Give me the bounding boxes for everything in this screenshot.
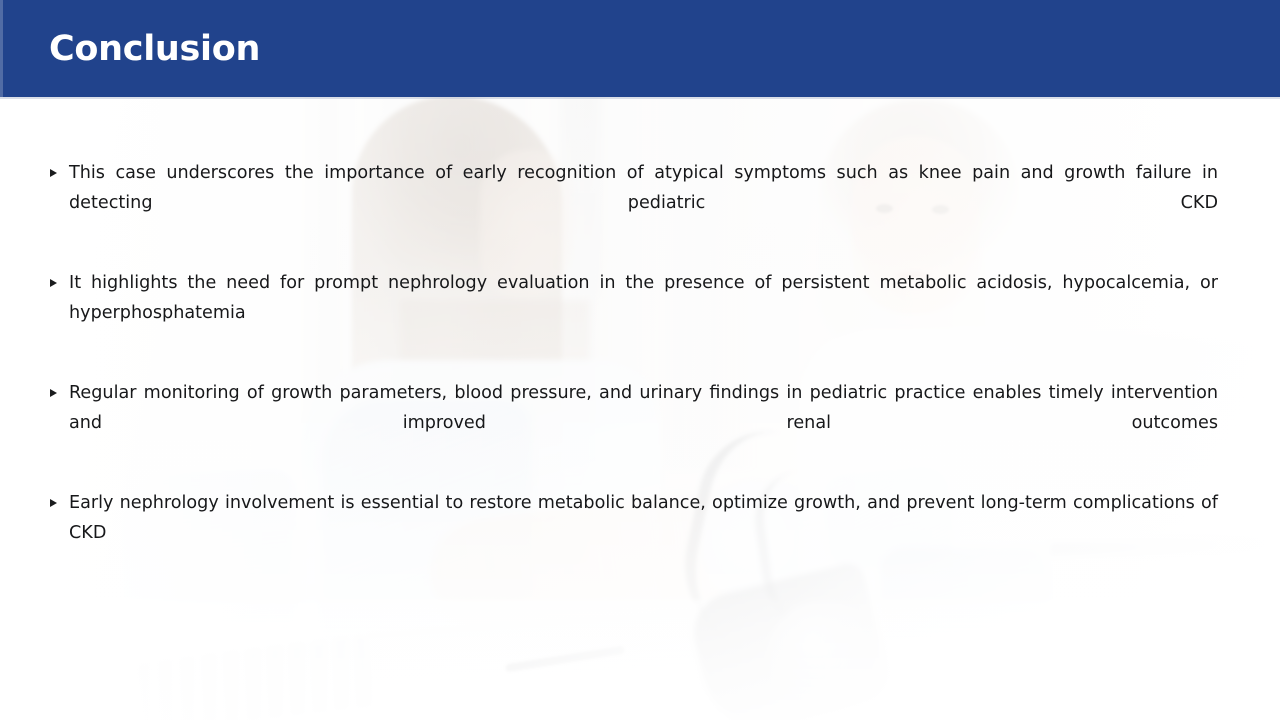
triangle-right-icon [50,169,57,177]
page-title: Conclusion [49,25,260,73]
list-item: It highlights the need for prompt nephro… [0,268,1280,358]
list-item: Regular monitoring of growth parameters,… [0,378,1280,468]
bullet-text: It highlights the need for prompt nephro… [69,273,1218,353]
triangle-right-icon [50,499,57,507]
slide-header-band: Conclusion [0,0,1280,97]
slide-left-edge [0,0,3,97]
list-item: Early nephrology involvement is essentia… [0,488,1280,578]
bullet-text: Regular monitoring of growth parameters,… [69,383,1218,463]
list-item: This case underscores the importance of … [0,158,1280,248]
bullet-text: This case underscores the importance of … [69,163,1218,243]
conclusion-bullet-list: This case underscores the importance of … [0,158,1280,578]
triangle-right-icon [50,279,57,287]
triangle-right-icon [50,389,57,397]
presentation-slide: Conclusion This case underscores the imp… [0,0,1280,720]
bullet-text: Early nephrology involvement is essentia… [69,493,1218,573]
